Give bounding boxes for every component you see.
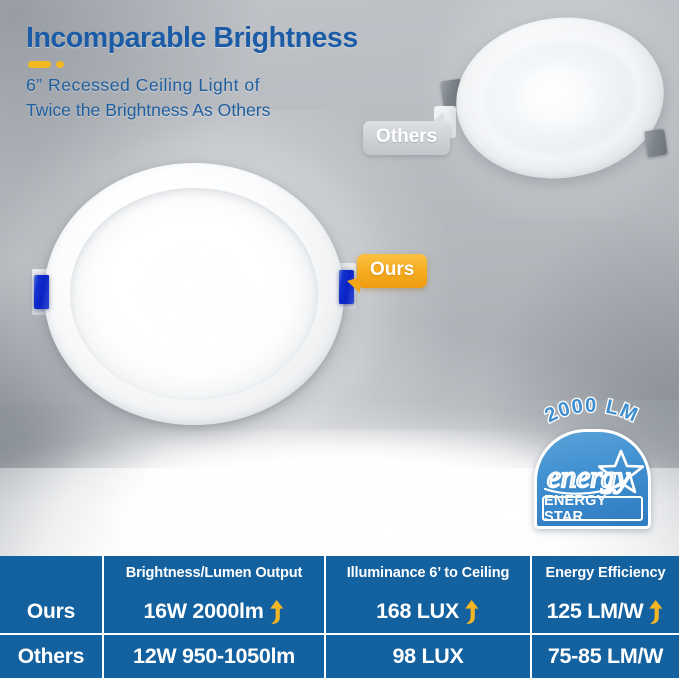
cell-others-efficiency: 75-85 LM/W bbox=[531, 634, 679, 678]
energy-star-badge: 2000 LM energy ENERGY STAR bbox=[521, 404, 663, 532]
up-arrow-icon bbox=[647, 599, 664, 625]
subtitle-line-2: Twice the Brightness As Others bbox=[26, 98, 446, 123]
table-header-efficiency: Energy Efficiency bbox=[531, 556, 679, 590]
others-lens-highlight bbox=[514, 63, 602, 132]
comparison-table: Brightness/Lumen Output Illuminance 6’ t… bbox=[0, 556, 679, 678]
accent-bar-icon bbox=[28, 61, 51, 68]
cell-value: 125 LM/W bbox=[547, 599, 644, 624]
callout-others: Others bbox=[363, 121, 450, 155]
accent-dot-icon bbox=[56, 61, 64, 68]
cell-value: 168 LUX bbox=[376, 599, 459, 624]
row-label-ours: Ours bbox=[0, 590, 103, 634]
accent-marks bbox=[28, 61, 446, 68]
ours-bevel bbox=[70, 188, 318, 401]
cell-ours-brightness: 16W 2000lm bbox=[103, 590, 325, 634]
cell-ours-efficiency: 125 LM/W bbox=[531, 590, 679, 634]
cell-others-brightness: 12W 950-1050lm bbox=[103, 634, 325, 678]
cell-value: 16W 2000lm bbox=[143, 599, 263, 624]
product-comparison-image: Incomparable Brightness 6” Recessed Ceil… bbox=[0, 0, 679, 679]
row-label-others: Others bbox=[0, 634, 103, 678]
table-header-brightness: Brightness/Lumen Output bbox=[103, 556, 325, 590]
callout-ours: Ours bbox=[357, 254, 427, 288]
badge-body: energy ENERGY STAR bbox=[534, 429, 651, 529]
page-title: Incomparable Brightness bbox=[26, 24, 446, 54]
subtitle-line-1: 6” Recessed Ceiling Light of bbox=[26, 73, 446, 98]
cell-ours-illuminance: 168 LUX bbox=[325, 590, 531, 634]
recessed-downlight-ours bbox=[44, 163, 344, 425]
blue-mounting-clip-left-icon bbox=[34, 275, 49, 309]
badge-label: ENERGY STAR bbox=[542, 496, 643, 521]
table-row: Ours 16W 2000lm 1 bbox=[0, 590, 679, 634]
ours-lens bbox=[101, 217, 287, 371]
table-row: Others 12W 950-1050lm 98 LUX 75-85 LM/W bbox=[0, 634, 679, 678]
up-arrow-icon bbox=[463, 599, 480, 625]
mounting-clip-right-icon bbox=[644, 129, 667, 158]
up-arrow-icon bbox=[268, 599, 285, 625]
floor-shadow-left bbox=[0, 405, 170, 565]
ours-trim-ring bbox=[44, 163, 344, 425]
table-header-blank bbox=[0, 556, 103, 590]
recessed-downlight-others bbox=[456, 18, 664, 178]
table-header-row: Brightness/Lumen Output Illuminance 6’ t… bbox=[0, 556, 679, 590]
heading-block: Incomparable Brightness 6” Recessed Ceil… bbox=[26, 24, 446, 123]
table-header-illuminance: Illuminance 6’ to Ceiling bbox=[325, 556, 531, 590]
cell-others-illuminance: 98 LUX bbox=[325, 634, 531, 678]
comparison-table-zone: Brightness/Lumen Output Illuminance 6’ t… bbox=[0, 556, 679, 679]
star-icon bbox=[598, 449, 644, 495]
ours-lens-highlight bbox=[138, 245, 253, 340]
subtitle: 6” Recessed Ceiling Light of Twice the B… bbox=[26, 73, 446, 123]
